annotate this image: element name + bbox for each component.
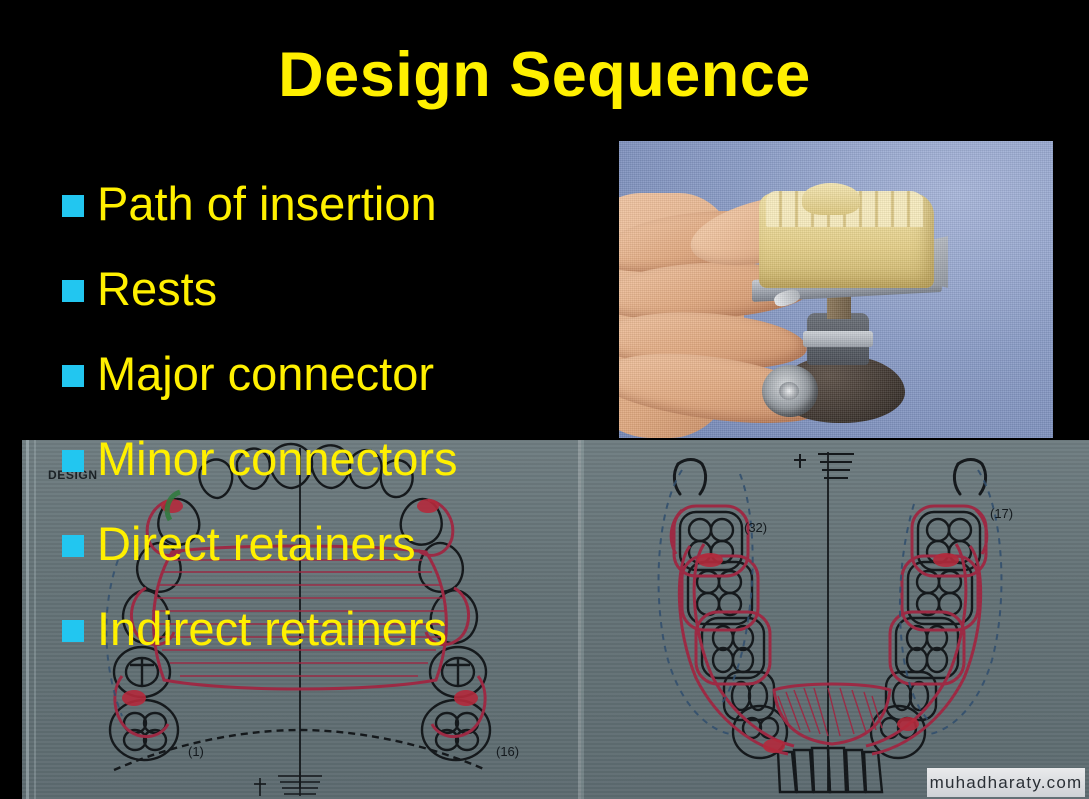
square-bullet-icon: [62, 450, 84, 472]
square-bullet-icon: [62, 535, 84, 557]
list-item[interactable]: Minor connectors: [62, 431, 458, 516]
list-item-label: Indirect retainers: [97, 601, 447, 657]
tooth-number-right-label: (16): [496, 744, 519, 759]
square-bullet-icon: [62, 195, 84, 217]
list-item[interactable]: Indirect retainers: [62, 601, 458, 686]
list-item[interactable]: Major connector: [62, 346, 458, 431]
bullet-list: Path of insertion Rests Major connector …: [62, 176, 458, 686]
list-item[interactable]: Path of insertion: [62, 176, 458, 261]
square-bullet-icon: [62, 365, 84, 387]
photo-grain-overlay: [619, 141, 1053, 438]
tooth-number-left-label: (1): [188, 744, 204, 759]
list-item-label: Minor connectors: [97, 431, 458, 487]
tooth-number-left-label: (32): [744, 520, 767, 535]
slide-canvas: (1) (16) DESIGN: [0, 0, 1089, 799]
photo-dental-cast-surveyor: [619, 141, 1053, 438]
list-item[interactable]: Rests: [62, 261, 458, 346]
page-title: Design Sequence: [0, 44, 1089, 107]
list-item-label: Major connector: [97, 346, 434, 402]
list-item[interactable]: Direct retainers: [62, 516, 458, 601]
list-item-label: Direct retainers: [97, 516, 416, 572]
tooth-number-right-label: (17): [990, 506, 1013, 521]
square-bullet-icon: [62, 620, 84, 642]
watermark: muhadharaty.com: [927, 768, 1085, 797]
list-item-label: Path of insertion: [97, 176, 437, 232]
square-bullet-icon: [62, 280, 84, 302]
survey-chart-mandibular: (32) (17): [578, 440, 1089, 799]
list-item-label: Rests: [97, 261, 217, 317]
mandibular-arch-drawing: (32) (17): [578, 440, 1089, 799]
